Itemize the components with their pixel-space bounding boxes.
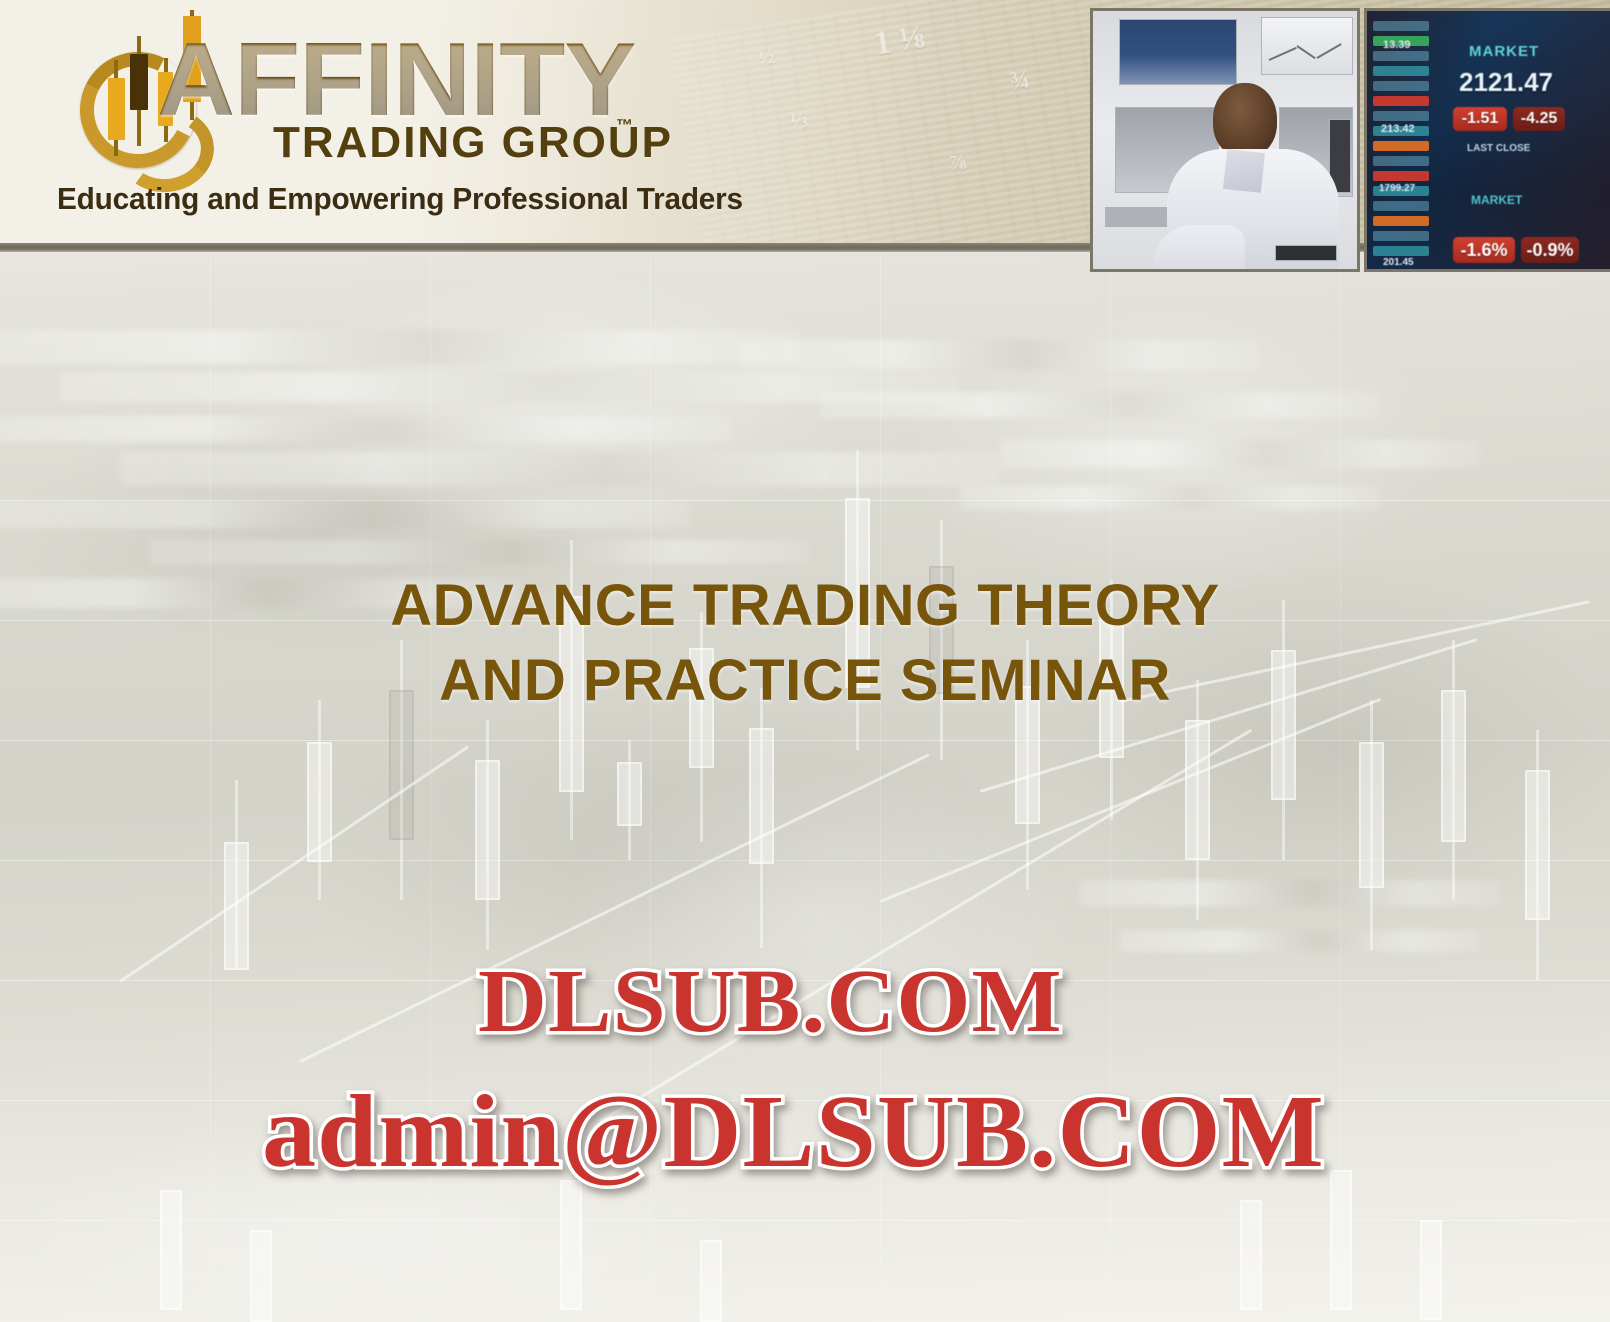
ticker-change-2-value: -4.25 bbox=[1521, 110, 1557, 128]
ticker-headline: MARKET bbox=[1469, 43, 1539, 60]
ticker-row-2: 213.42 bbox=[1381, 123, 1415, 135]
ticker-row-3: 1799.27 bbox=[1379, 183, 1415, 194]
ticker-percent-2: -0.9% bbox=[1521, 237, 1579, 263]
ticker-column bbox=[1373, 15, 1429, 269]
brand-tagline: Educating and Empowering Professional Tr… bbox=[57, 181, 743, 217]
ticker-sub-label: LAST CLOSE bbox=[1467, 143, 1530, 154]
ticker-index-value: 2121.47 bbox=[1459, 67, 1553, 98]
ticker-percent-1: -1.6% bbox=[1453, 237, 1515, 263]
watermark-email: admin@DLSUB.COM bbox=[262, 1072, 1325, 1191]
ticker-percent-1-value: -1.6% bbox=[1460, 240, 1507, 261]
ticker-section-label: MARKET bbox=[1471, 193, 1522, 207]
brand-name-secondary: TRADING GROUP bbox=[273, 118, 673, 168]
watermark-domain: DLSUB.COM bbox=[478, 950, 1063, 1053]
ticker-change-1: -1.51 bbox=[1453, 107, 1507, 131]
ticker-row-1: 13.39 bbox=[1383, 39, 1411, 51]
brand-name-primary: AFFINITY bbox=[157, 28, 635, 132]
trademark-symbol: ™ bbox=[616, 116, 633, 136]
presenter-webcam[interactable] bbox=[1090, 8, 1360, 272]
market-ticker-board[interactable]: 13.39 213.42 1799.27 201.45 MARKET 2121.… bbox=[1364, 8, 1610, 272]
ticker-change-1-value: -1.51 bbox=[1462, 110, 1498, 128]
slide-title: ADVANCE TRADING THEORY AND PRACTICE SEMI… bbox=[0, 568, 1610, 719]
ticker-percent-2-value: -0.9% bbox=[1526, 240, 1573, 261]
presentation-slide: 1 ⅛ ¾ ⅓ ⅞ ½ AFFINITY TRADING GROUP ™ Edu… bbox=[0, 0, 1610, 1322]
ticker-row-4: 201.45 bbox=[1383, 257, 1414, 268]
ticker-change-2: -4.25 bbox=[1513, 107, 1565, 131]
